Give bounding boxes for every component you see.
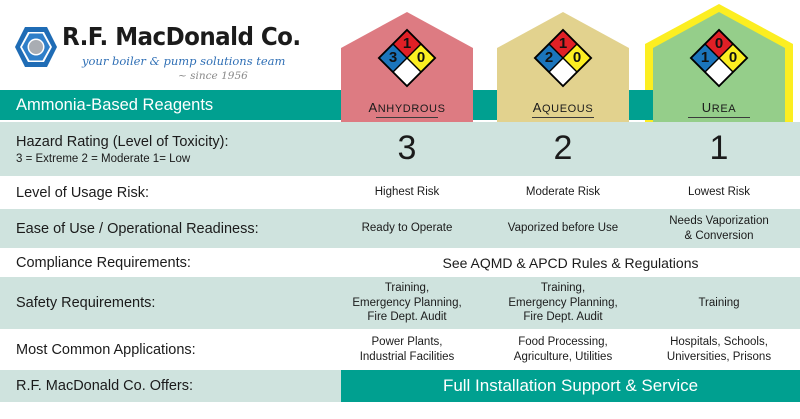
cell-applications-urea: Hospitals, Schools,Universities, Prisons — [653, 329, 785, 370]
caption-rest: QUEOUS — [542, 103, 593, 115]
cell-text: Needs Vaporization& Conversion — [669, 214, 769, 243]
comparison-chart: R.F. MacDonald Co. your boiler & pump so… — [0, 0, 800, 419]
cell-text: 1 — [710, 127, 729, 171]
row-sublabel-text: 3 = Extreme 2 = Moderate 1= Low — [16, 153, 229, 165]
header-band: Ammonia-Based Reagents — [0, 90, 341, 120]
column-caption-aqueous: AQUEOUS — [497, 100, 629, 118]
chart-row-applications: Most Common Applications:Power Plants,In… — [0, 329, 800, 370]
cell-text: 3 — [398, 127, 417, 171]
row-label-text: R.F. MacDonald Co. Offers: — [16, 378, 193, 394]
caption-underline — [376, 117, 438, 118]
cell-text: 2 — [554, 127, 573, 171]
row-label-compliance: Compliance Requirements: — [16, 248, 191, 277]
caption-rest: NHYDROUS — [378, 103, 446, 115]
row-label-text: Safety Requirements: — [16, 295, 155, 311]
column-caption-urea: UREA — [653, 100, 785, 118]
page-title: Ammonia-Based Reagents — [16, 96, 213, 115]
cell-text: Vaporized before Use — [508, 221, 618, 236]
cell-text: Food Processing,Agriculture, Utilities — [514, 335, 612, 364]
chart-row-compliance: Compliance Requirements:See AQMD & APCD … — [0, 248, 800, 277]
svg-text:1: 1 — [559, 35, 567, 52]
cell-usage-risk-anhydrous: Highest Risk — [341, 176, 473, 209]
compliance-span-text: See AQMD & APCD Rules & Regulations — [341, 248, 800, 277]
cell-safety-anhydrous: Training,Emergency Planning,Fire Dept. A… — [341, 277, 473, 329]
cell-hazard-rating-urea: 1 — [653, 122, 785, 176]
row-label-text: Level of Usage Risk: — [16, 185, 149, 201]
cell-safety-aqueous: Training,Emergency Planning,Fire Dept. A… — [497, 277, 629, 329]
hexagon-nut-icon — [14, 26, 58, 68]
svg-text:0: 0 — [729, 49, 737, 66]
svg-text:1: 1 — [403, 35, 411, 52]
service-band-text: Full Installation Support & Service — [341, 370, 800, 402]
cell-text: Ready to Operate — [362, 221, 453, 236]
caption-initial: U — [702, 100, 712, 115]
cell-text: Lowest Risk — [688, 185, 750, 200]
header-band-stub — [629, 90, 653, 120]
nfpa-diamond-aqueous: 120 — [533, 28, 593, 88]
nfpa-diamond-anhydrous: 130 — [377, 28, 437, 88]
cell-text: Highest Risk — [375, 185, 440, 200]
chart-row-offers: R.F. MacDonald Co. Offers:Full Installat… — [0, 370, 800, 402]
caption-underline — [532, 117, 594, 118]
caption-initial: A — [533, 100, 542, 115]
row-label-text: Most Common Applications: — [16, 342, 196, 358]
chart-row-safety: Safety Requirements:Training,Emergency P… — [0, 277, 800, 329]
company-logo: R.F. MacDonald Co. your boiler & pump so… — [10, 18, 310, 86]
column-caption-anhydrous: ANHYDROUS — [341, 100, 473, 118]
svg-text:0: 0 — [573, 49, 581, 66]
row-label-hazard-rating: Hazard Rating (Level of Toxicity):3 = Ex… — [16, 122, 229, 176]
chart-row-usage-risk: Level of Usage Risk:Highest RiskModerate… — [0, 176, 800, 209]
row-label-applications: Most Common Applications: — [16, 329, 196, 370]
svg-text:0: 0 — [417, 49, 425, 66]
chart-row-hazard-rating: Hazard Rating (Level of Toxicity):3 = Ex… — [0, 122, 800, 176]
cell-ease-of-use-aqueous: Vaporized before Use — [497, 209, 629, 248]
chart-row-ease-of-use: Ease of Use / Operational Readiness:Read… — [0, 209, 800, 248]
svg-text:1: 1 — [701, 49, 709, 66]
caption-initial: A — [368, 100, 377, 115]
row-label-text: Ease of Use / Operational Readiness: — [16, 221, 259, 237]
logo-since: ~ since 1956 — [178, 70, 248, 82]
row-label-safety: Safety Requirements: — [16, 277, 155, 329]
caption-underline — [688, 117, 750, 118]
svg-text:3: 3 — [389, 49, 397, 66]
row-label-usage-risk: Level of Usage Risk: — [16, 176, 149, 209]
cell-ease-of-use-urea: Needs Vaporization& Conversion — [653, 209, 785, 248]
nfpa-diamond-urea: 010 — [689, 28, 749, 88]
cell-hazard-rating-anhydrous: 3 — [341, 122, 473, 176]
cell-text: Training,Emergency Planning,Fire Dept. A… — [352, 281, 461, 325]
row-label-text: Hazard Rating (Level of Toxicity): — [16, 134, 229, 150]
svg-text:0: 0 — [715, 35, 723, 52]
cell-usage-risk-aqueous: Moderate Risk — [497, 176, 629, 209]
cell-text: Moderate Risk — [526, 185, 600, 200]
cell-safety-urea: Training — [653, 277, 785, 329]
cell-text: Hospitals, Schools,Universities, Prisons — [667, 335, 771, 364]
cell-hazard-rating-aqueous: 2 — [497, 122, 629, 176]
cell-usage-risk-urea: Lowest Risk — [653, 176, 785, 209]
logo-wordmark: R.F. MacDonald Co. — [62, 22, 301, 51]
caption-rest: REA — [712, 103, 736, 115]
cell-applications-aqueous: Food Processing,Agriculture, Utilities — [497, 329, 629, 370]
cell-text: Power Plants,Industrial Facilities — [360, 335, 455, 364]
row-label-text: Compliance Requirements: — [16, 255, 191, 271]
svg-text:2: 2 — [545, 49, 553, 66]
header-band-stub — [473, 90, 497, 120]
cell-text: Training — [698, 296, 739, 311]
row-label-ease-of-use: Ease of Use / Operational Readiness: — [16, 209, 259, 248]
row-label-offers: R.F. MacDonald Co. Offers: — [16, 370, 193, 402]
cell-ease-of-use-anhydrous: Ready to Operate — [341, 209, 473, 248]
logo-tagline: your boiler & pump solutions team — [82, 54, 285, 68]
cell-applications-anhydrous: Power Plants,Industrial Facilities — [341, 329, 473, 370]
cell-text: Training,Emergency Planning,Fire Dept. A… — [508, 281, 617, 325]
